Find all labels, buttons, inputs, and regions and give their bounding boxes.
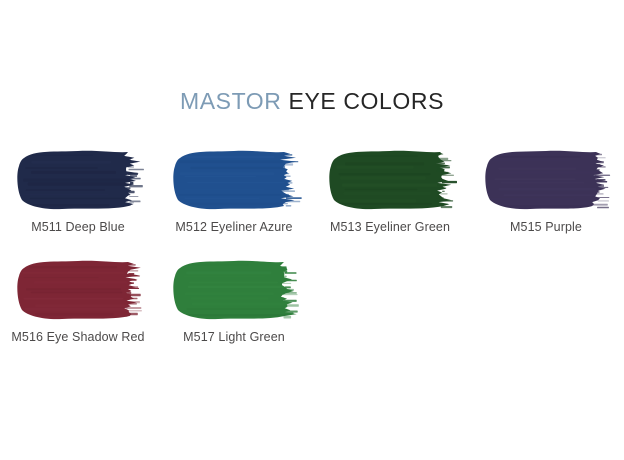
swatch-label: M515 Purple [468,220,624,234]
swatch-cell[interactable]: M516 Eye Shadow Red [0,252,156,362]
title-brand: MASTOR [180,88,282,114]
swatch-cell[interactable]: M513 Eyeliner Green [312,142,468,252]
paint-swatch-m517[interactable] [172,258,300,322]
paint-swatch-m516[interactable] [16,258,144,322]
swatch-cell[interactable]: M512 Eyeliner Azure [156,142,312,252]
swatch-label: M516 Eye Shadow Red [0,330,156,344]
swatch-label: M517 Light Green [156,330,312,344]
swatch-row: M516 Eye Shadow RedM517 Light Green [0,252,624,362]
swatch-label: M512 Eyeliner Azure [156,220,312,234]
swatch-label: M511 Deep Blue [0,220,156,234]
swatch-cell[interactable]: M511 Deep Blue [0,142,156,252]
swatch-cell[interactable]: M517 Light Green [156,252,312,362]
paint-swatch-m511[interactable] [16,148,144,212]
paint-swatch-m515[interactable] [484,148,612,212]
paint-swatch-m512[interactable] [172,148,300,212]
swatch-row: M511 Deep BlueM512 Eyeliner AzureM513 Ey… [0,142,624,252]
swatch-label: M513 Eyeliner Green [312,220,468,234]
title-rest: EYE COLORS [282,88,445,114]
paint-swatch-m513[interactable] [328,148,456,212]
swatch-grid: M511 Deep BlueM512 Eyeliner AzureM513 Ey… [0,142,624,362]
swatch-cell[interactable]: M515 Purple [468,142,624,252]
color-catalog-page: MASTOR EYE COLORS M511 Deep BlueM512 Eye… [0,0,624,460]
page-title: MASTOR EYE COLORS [0,88,624,115]
